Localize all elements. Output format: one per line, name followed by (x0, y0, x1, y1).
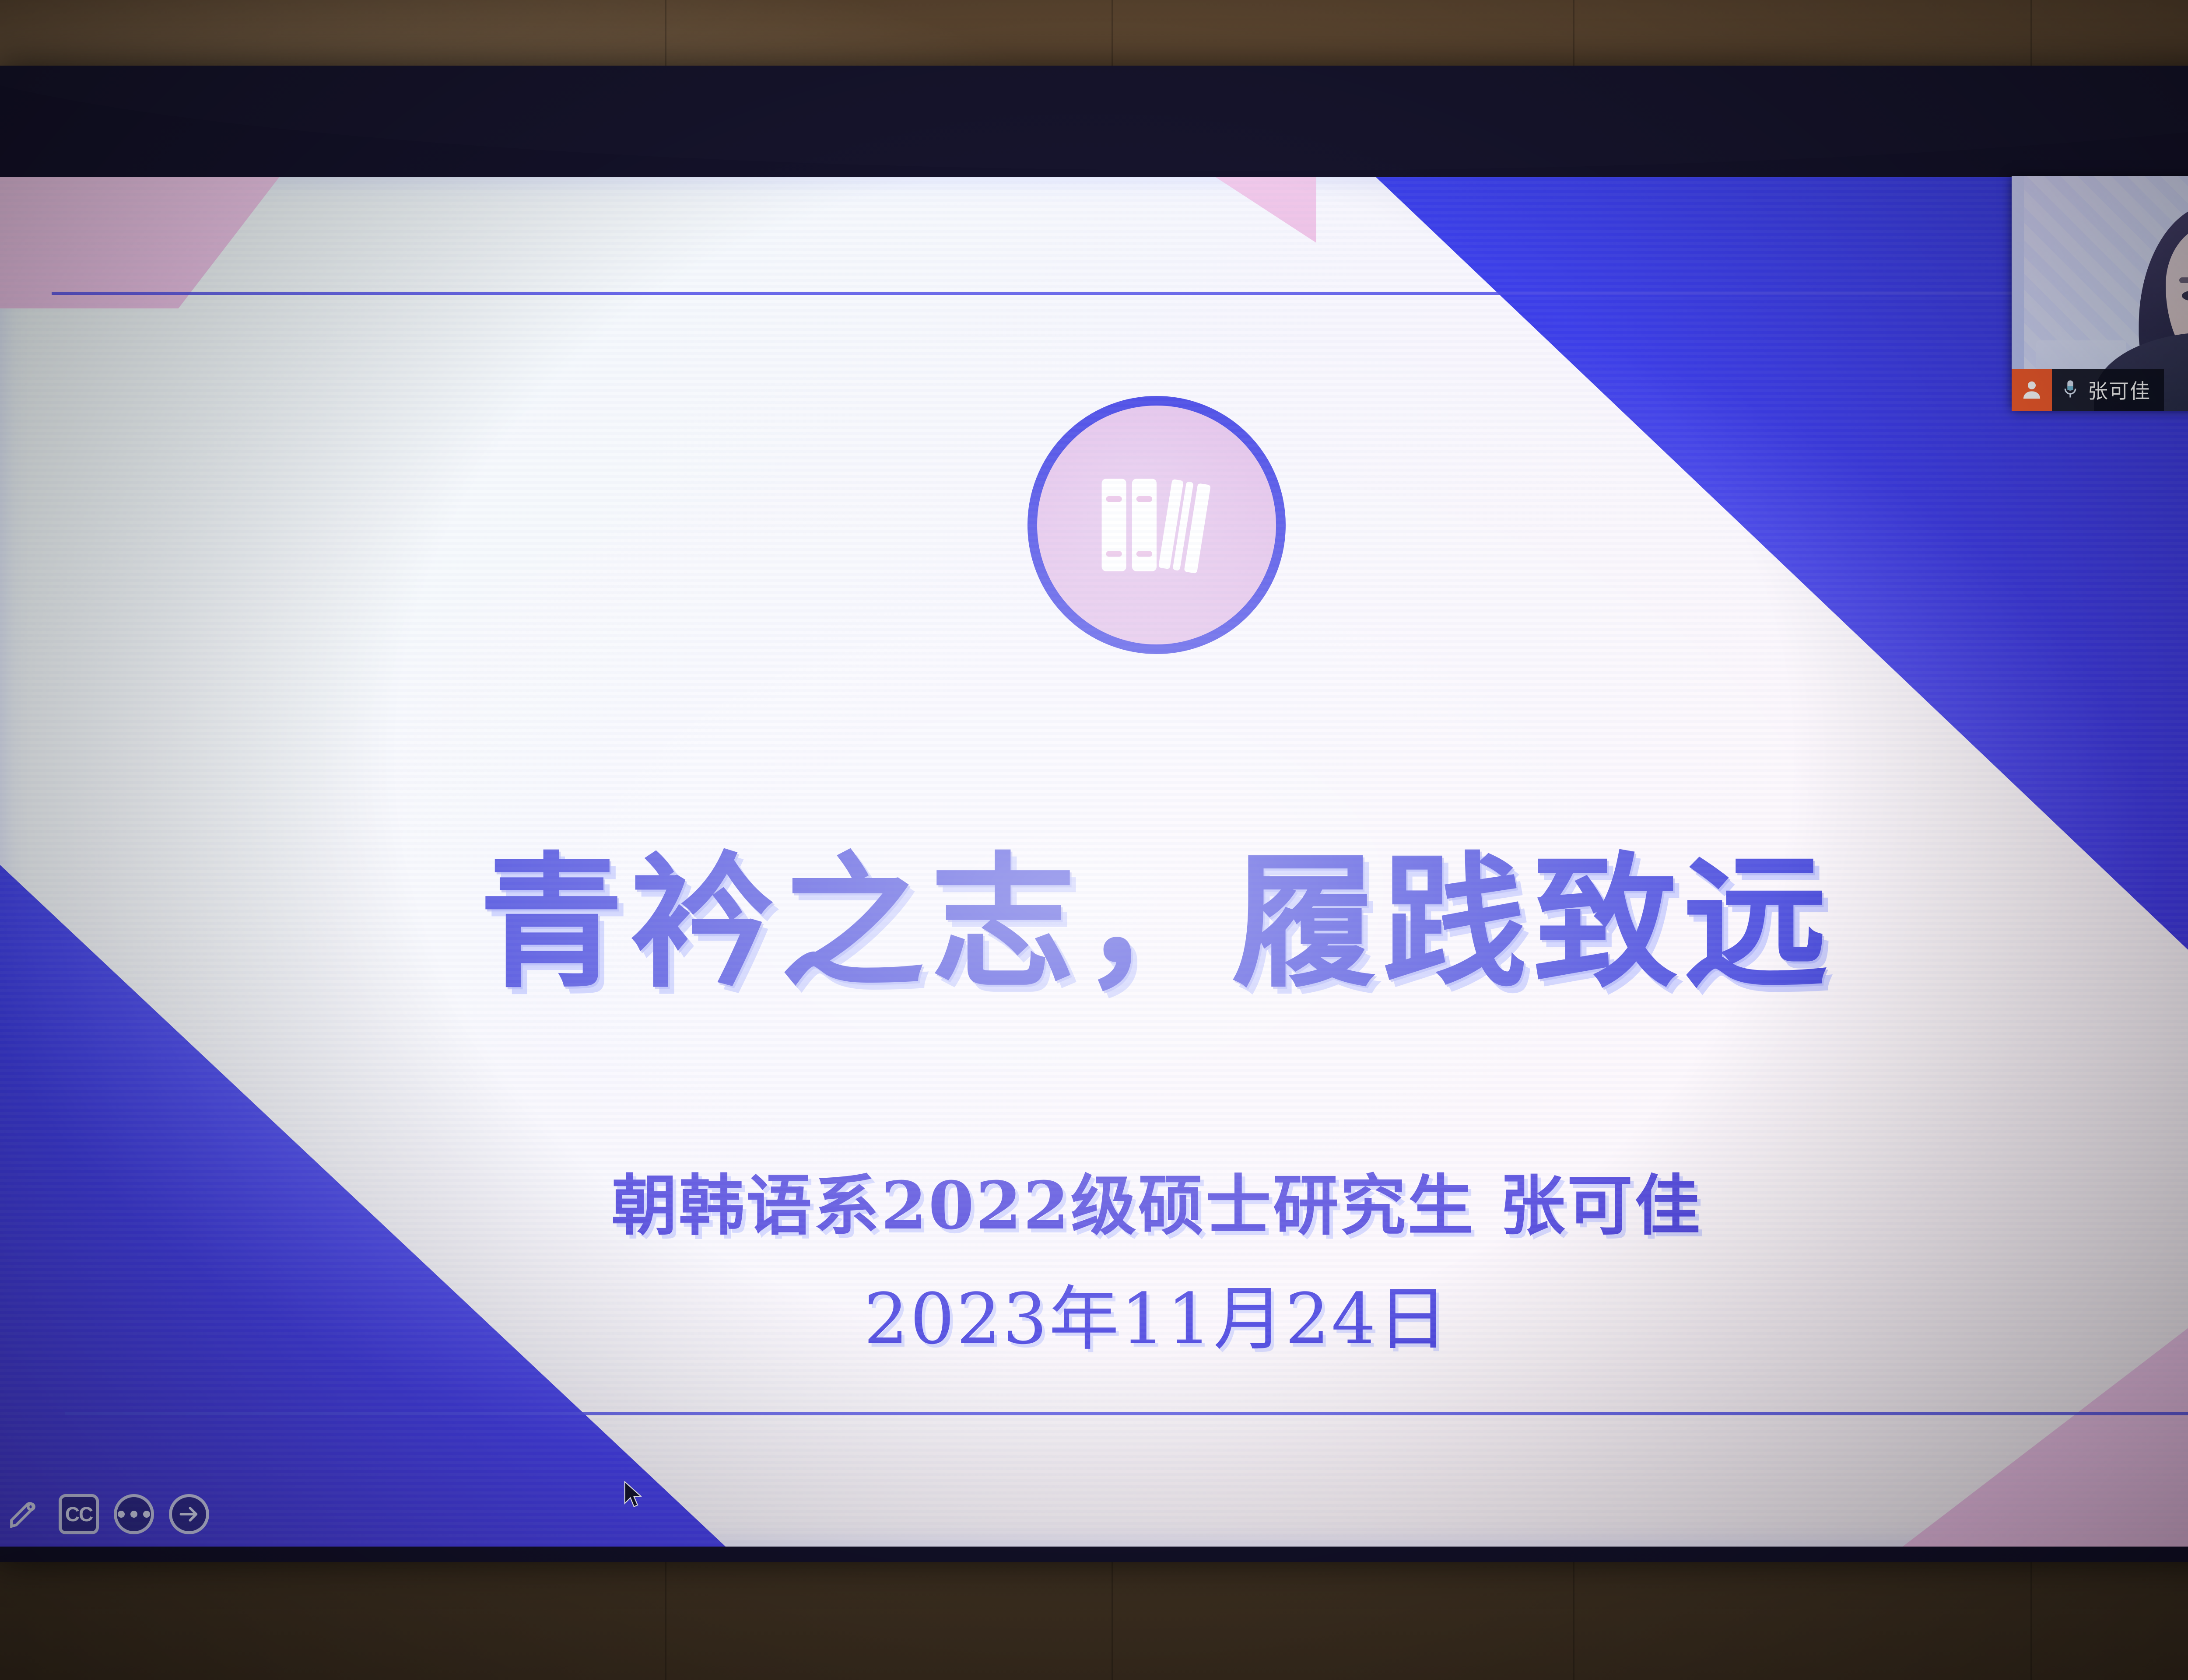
slide-rule-top (52, 292, 2188, 295)
presentation-slide: 青衿之志，履践致远 朝韩语系2022级硕士研究生 张可佳 2023年11月24日… (0, 177, 2188, 1547)
led-display-screen: 青衿之志，履践致远 朝韩语系2022级硕士研究生 张可佳 2023年11月24日… (0, 66, 2188, 1562)
microphone-icon (2062, 378, 2079, 401)
decoration-top-left-pink (0, 177, 279, 308)
pen-icon[interactable] (4, 1494, 44, 1534)
slide-rule-bottom (65, 1412, 2188, 1415)
participant-name-chip: 张可佳 (2052, 369, 2164, 411)
more-options-icon[interactable] (114, 1494, 154, 1534)
books-badge (1027, 396, 1286, 654)
participant-name-text: 张可佳 (2088, 375, 2151, 404)
presenter-toolbar[interactable]: CC (4, 1494, 209, 1534)
participant-name-bar: 张可佳 (2012, 369, 2164, 411)
slide-date: 2023年11月24日 (0, 1262, 2188, 1364)
participant-brow-left (2179, 277, 2188, 283)
room-background: 青衿之志，履践致远 朝韩语系2022级硕士研究生 张可佳 2023年11月24日… (0, 0, 2188, 1680)
slide-title: 青衿之志，履践致远 (0, 851, 2188, 995)
screen-bezel-top (0, 66, 2188, 171)
closed-captions-icon[interactable]: CC (59, 1494, 99, 1534)
slide-subtitle: 朝韩语系2022级硕士研究生 张可佳 (0, 1153, 2188, 1248)
next-slide-icon[interactable] (169, 1494, 209, 1534)
decoration-top-right-pink-sliver (1216, 177, 1316, 243)
mouse-pointer (623, 1481, 642, 1510)
person-icon (2012, 369, 2052, 411)
books-icon (1084, 453, 1229, 597)
webcam-pip[interactable]: 张可佳 (2012, 176, 2188, 411)
